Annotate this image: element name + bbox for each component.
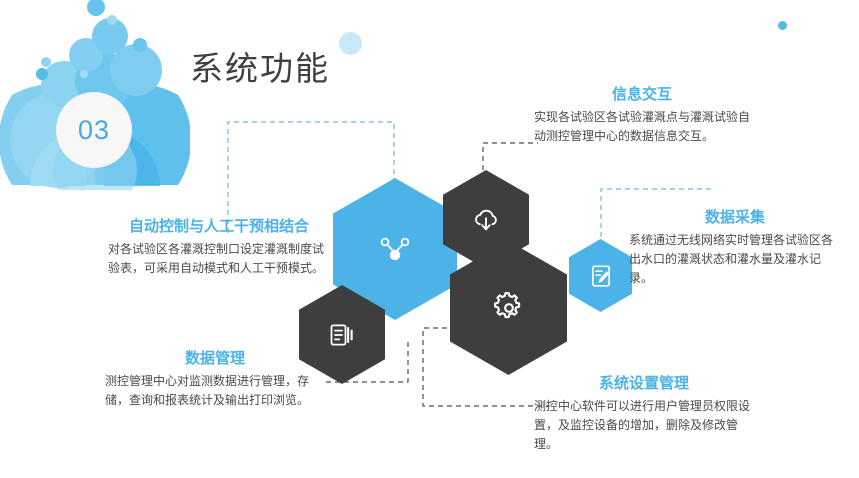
body-data-management: 测控管理中心对监测数据进行管理，存储，查询和报表统计及输出打印浏览。 bbox=[105, 372, 325, 410]
section-number: 03 bbox=[56, 92, 132, 168]
hexagon-data-collection[interactable] bbox=[569, 239, 632, 312]
text-block-info-exchange: 信息交互 实现各试验区各试验灌溉点与灌溉试验自动测控管理中心的数据信息交互。 bbox=[534, 86, 750, 146]
cloud-download-icon bbox=[471, 205, 501, 235]
heading-system-settings: 系统设置管理 bbox=[534, 375, 754, 393]
text-block-data-collection: 数据采集 系统通过无线网络实时管理各试验区各出水口的灌溉状态和灌水量及灌水记录。 bbox=[629, 209, 841, 288]
body-auto-control: 对各试验区各灌溉控制口设定灌溉制度试验表，可采用自动模式和人工干预模式。 bbox=[108, 240, 330, 278]
share-network-icon bbox=[377, 231, 413, 267]
form-edit-icon bbox=[588, 263, 614, 289]
gear-icon bbox=[492, 291, 526, 325]
body-system-settings: 测控中心软件可以进行用户管理员权限设置，及监控设备的增加，删除及修改管理。 bbox=[534, 397, 754, 454]
hexagon-system-settings[interactable] bbox=[450, 241, 567, 375]
decorative-dot-small bbox=[778, 21, 787, 30]
documents-stack-icon bbox=[328, 321, 356, 349]
slide-canvas: 03 系统功能 bbox=[0, 0, 859, 478]
bubble-decoration: 03 bbox=[0, 0, 190, 190]
heading-data-collection: 数据采集 bbox=[629, 209, 841, 227]
heading-data-management: 数据管理 bbox=[105, 350, 325, 368]
text-block-data-management: 数据管理 测控管理中心对监测数据进行管理，存储，查询和报表统计及输出打印浏览。 bbox=[105, 350, 325, 410]
page-title: 系统功能 bbox=[190, 42, 330, 90]
decorative-dot-large bbox=[339, 32, 362, 55]
body-info-exchange: 实现各试验区各试验灌溉点与灌溉试验自动测控管理中心的数据信息交互。 bbox=[534, 108, 750, 146]
text-block-auto-control: 自动控制与人工干预相结合 对各试验区各灌溉控制口设定灌溉制度试验表，可采用自动模… bbox=[108, 218, 330, 278]
heading-auto-control: 自动控制与人工干预相结合 bbox=[108, 218, 330, 236]
body-data-collection: 系统通过无线网络实时管理各试验区各出水口的灌溉状态和灌水量及灌水记录。 bbox=[629, 231, 841, 288]
text-block-system-settings: 系统设置管理 测控中心软件可以进行用户管理员权限设置，及监控设备的增加，删除及修… bbox=[534, 375, 754, 454]
heading-info-exchange: 信息交互 bbox=[534, 86, 750, 104]
